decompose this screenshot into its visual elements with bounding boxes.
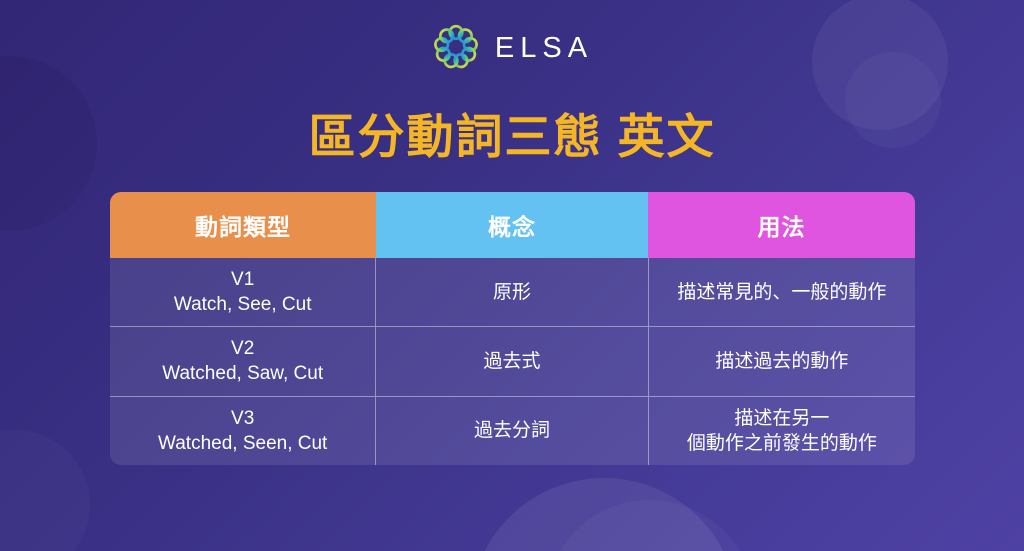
usage-text: 描述常見的、一般的動作: [677, 280, 886, 305]
table-row: V2 Watched, Saw, Cut 過去式 描述過去的動作: [110, 326, 915, 395]
cell-verb-type: V3 Watched, Seen, Cut: [110, 397, 375, 465]
cell-verb-type: V1 Watch, See, Cut: [110, 258, 375, 326]
column-header-concept: 概念: [376, 192, 648, 258]
concept-text: 過去分詞: [474, 418, 550, 443]
background-blob-bottom-center-inner: [545, 500, 755, 551]
table-row: V1 Watch, See, Cut 原形 描述常見的、一般的動作: [110, 258, 915, 326]
verb-form-label: V1: [231, 267, 254, 292]
cell-usage: 描述在另一 個動作之前發生的動作: [648, 397, 915, 465]
brand-logo: ELSA: [0, 22, 1024, 72]
verb-examples: Watched, Seen, Cut: [158, 431, 327, 456]
cell-concept: 過去式: [375, 327, 647, 395]
usage-text-line2: 個動作之前發生的動作: [687, 431, 877, 456]
verb-examples: Watch, See, Cut: [174, 292, 312, 317]
verb-examples: Watched, Saw, Cut: [162, 361, 323, 386]
slide-canvas: ELSA 區分動詞三態 英文 動詞類型 概念 用法 V1 Watch, See,…: [0, 0, 1024, 551]
verb-form-label: V3: [231, 406, 254, 431]
column-header-usage: 用法: [648, 192, 915, 258]
verb-form-label: V2: [231, 336, 254, 361]
cell-usage: 描述常見的、一般的動作: [648, 258, 915, 326]
brand-wordmark: ELSA: [495, 32, 593, 63]
table-header-row: 動詞類型 概念 用法: [110, 192, 915, 258]
cell-verb-type: V2 Watched, Saw, Cut: [110, 327, 375, 395]
background-blob-bottom-left: [0, 430, 90, 551]
column-header-verb-type: 動詞類型: [110, 192, 376, 258]
verb-forms-table: 動詞類型 概念 用法 V1 Watch, See, Cut 原形 描述常見的、一…: [110, 192, 915, 465]
concept-text: 原形: [493, 280, 531, 305]
cell-usage: 描述過去的動作: [648, 327, 915, 395]
usage-text-line1: 描述在另一: [734, 406, 829, 431]
table-row: V3 Watched, Seen, Cut 過去分詞 描述在另一 個動作之前發生…: [110, 396, 915, 465]
cell-concept: 過去分詞: [375, 397, 647, 465]
cell-concept: 原形: [375, 258, 647, 326]
usage-text: 描述過去的動作: [715, 349, 848, 374]
elsa-flower-logo-icon: [431, 22, 481, 72]
background-blob-bottom-center: [470, 478, 738, 551]
page-title: 區分動詞三態 英文: [0, 106, 1024, 168]
concept-text: 過去式: [484, 349, 541, 374]
table-body: V1 Watch, See, Cut 原形 描述常見的、一般的動作 V2 Wat…: [110, 258, 915, 465]
